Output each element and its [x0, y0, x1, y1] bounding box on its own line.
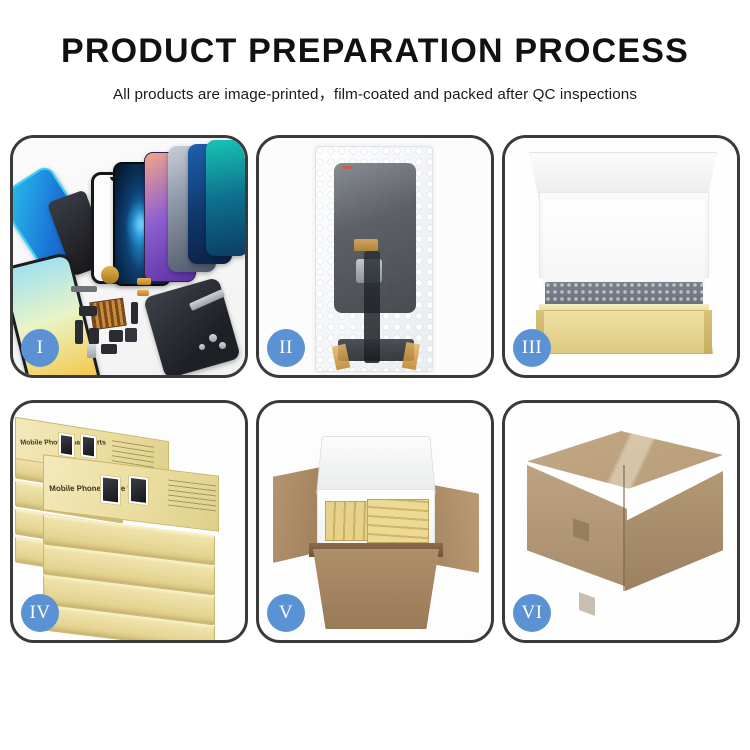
- gold-connector-part: [137, 278, 151, 285]
- teal-phone: [206, 140, 248, 256]
- screw-part: [219, 342, 226, 349]
- yellow-tape-right: [402, 342, 420, 370]
- step-panel-1[interactable]: I: [10, 135, 248, 378]
- metal-bracket-part: [87, 344, 96, 358]
- bubble-wrap-bag: [315, 146, 433, 372]
- vibrator-part: [125, 328, 137, 342]
- step-badge-1: I: [21, 329, 59, 367]
- gold-connector-part: [137, 290, 149, 296]
- gold-box-front: [535, 310, 713, 354]
- flex-strip-part: [75, 320, 83, 344]
- step-badge-6: VI: [513, 594, 551, 632]
- yellow-tape: [354, 239, 378, 251]
- camera-module-part: [89, 328, 99, 344]
- page-title: PRODUCT PREPARATION PROCESS: [0, 34, 750, 70]
- step-panel-6[interactable]: VI: [502, 400, 740, 643]
- screw-part: [209, 334, 217, 342]
- phone-back-housing: [143, 277, 241, 378]
- page-root: PRODUCT PREPARATION PROCESS All products…: [0, 0, 750, 750]
- step-badge-4: IV: [21, 594, 59, 632]
- step-panel-3[interactable]: III: [502, 135, 740, 378]
- flex-cable-part: [131, 302, 138, 324]
- carton-vertical-seam: [623, 465, 625, 591]
- box-label-thumb: [128, 475, 149, 507]
- speaker-mesh-part: [71, 286, 97, 292]
- step-badge-2: II: [267, 329, 305, 367]
- white-foam-pad: [543, 200, 705, 286]
- step-panel-4[interactable]: Mobile Phone Spare Parts Mobile Phone Sp…: [10, 400, 248, 643]
- carton-right-face: [625, 471, 723, 591]
- small-module-part: [79, 306, 97, 316]
- step-badge-5: V: [267, 594, 305, 632]
- header: PRODUCT PREPARATION PROCESS All products…: [0, 0, 750, 104]
- box-label-spec-lines: [168, 480, 216, 512]
- gold-boxes-inside: [367, 499, 429, 543]
- sim-tray-part: [101, 344, 117, 354]
- box-label-thumb: [80, 433, 97, 460]
- process-step-grid: I II: [10, 135, 740, 683]
- screw-part: [199, 344, 205, 350]
- step-badge-3: III: [513, 329, 551, 367]
- step-panel-5[interactable]: V: [256, 400, 494, 643]
- page-subtitle: All products are image-printed，film-coat…: [0, 82, 750, 104]
- carton-front-wall: [313, 549, 439, 629]
- box-label-thumb: [58, 432, 75, 459]
- battery-connector-part: [109, 330, 123, 342]
- carton-handle-notch: [579, 592, 595, 616]
- step-panel-2[interactable]: II: [256, 135, 494, 378]
- box-label-thumb: [100, 474, 121, 506]
- foam-box-lid: [316, 436, 436, 497]
- box-right-edge: [704, 310, 712, 354]
- gold-coin-part: [101, 266, 119, 284]
